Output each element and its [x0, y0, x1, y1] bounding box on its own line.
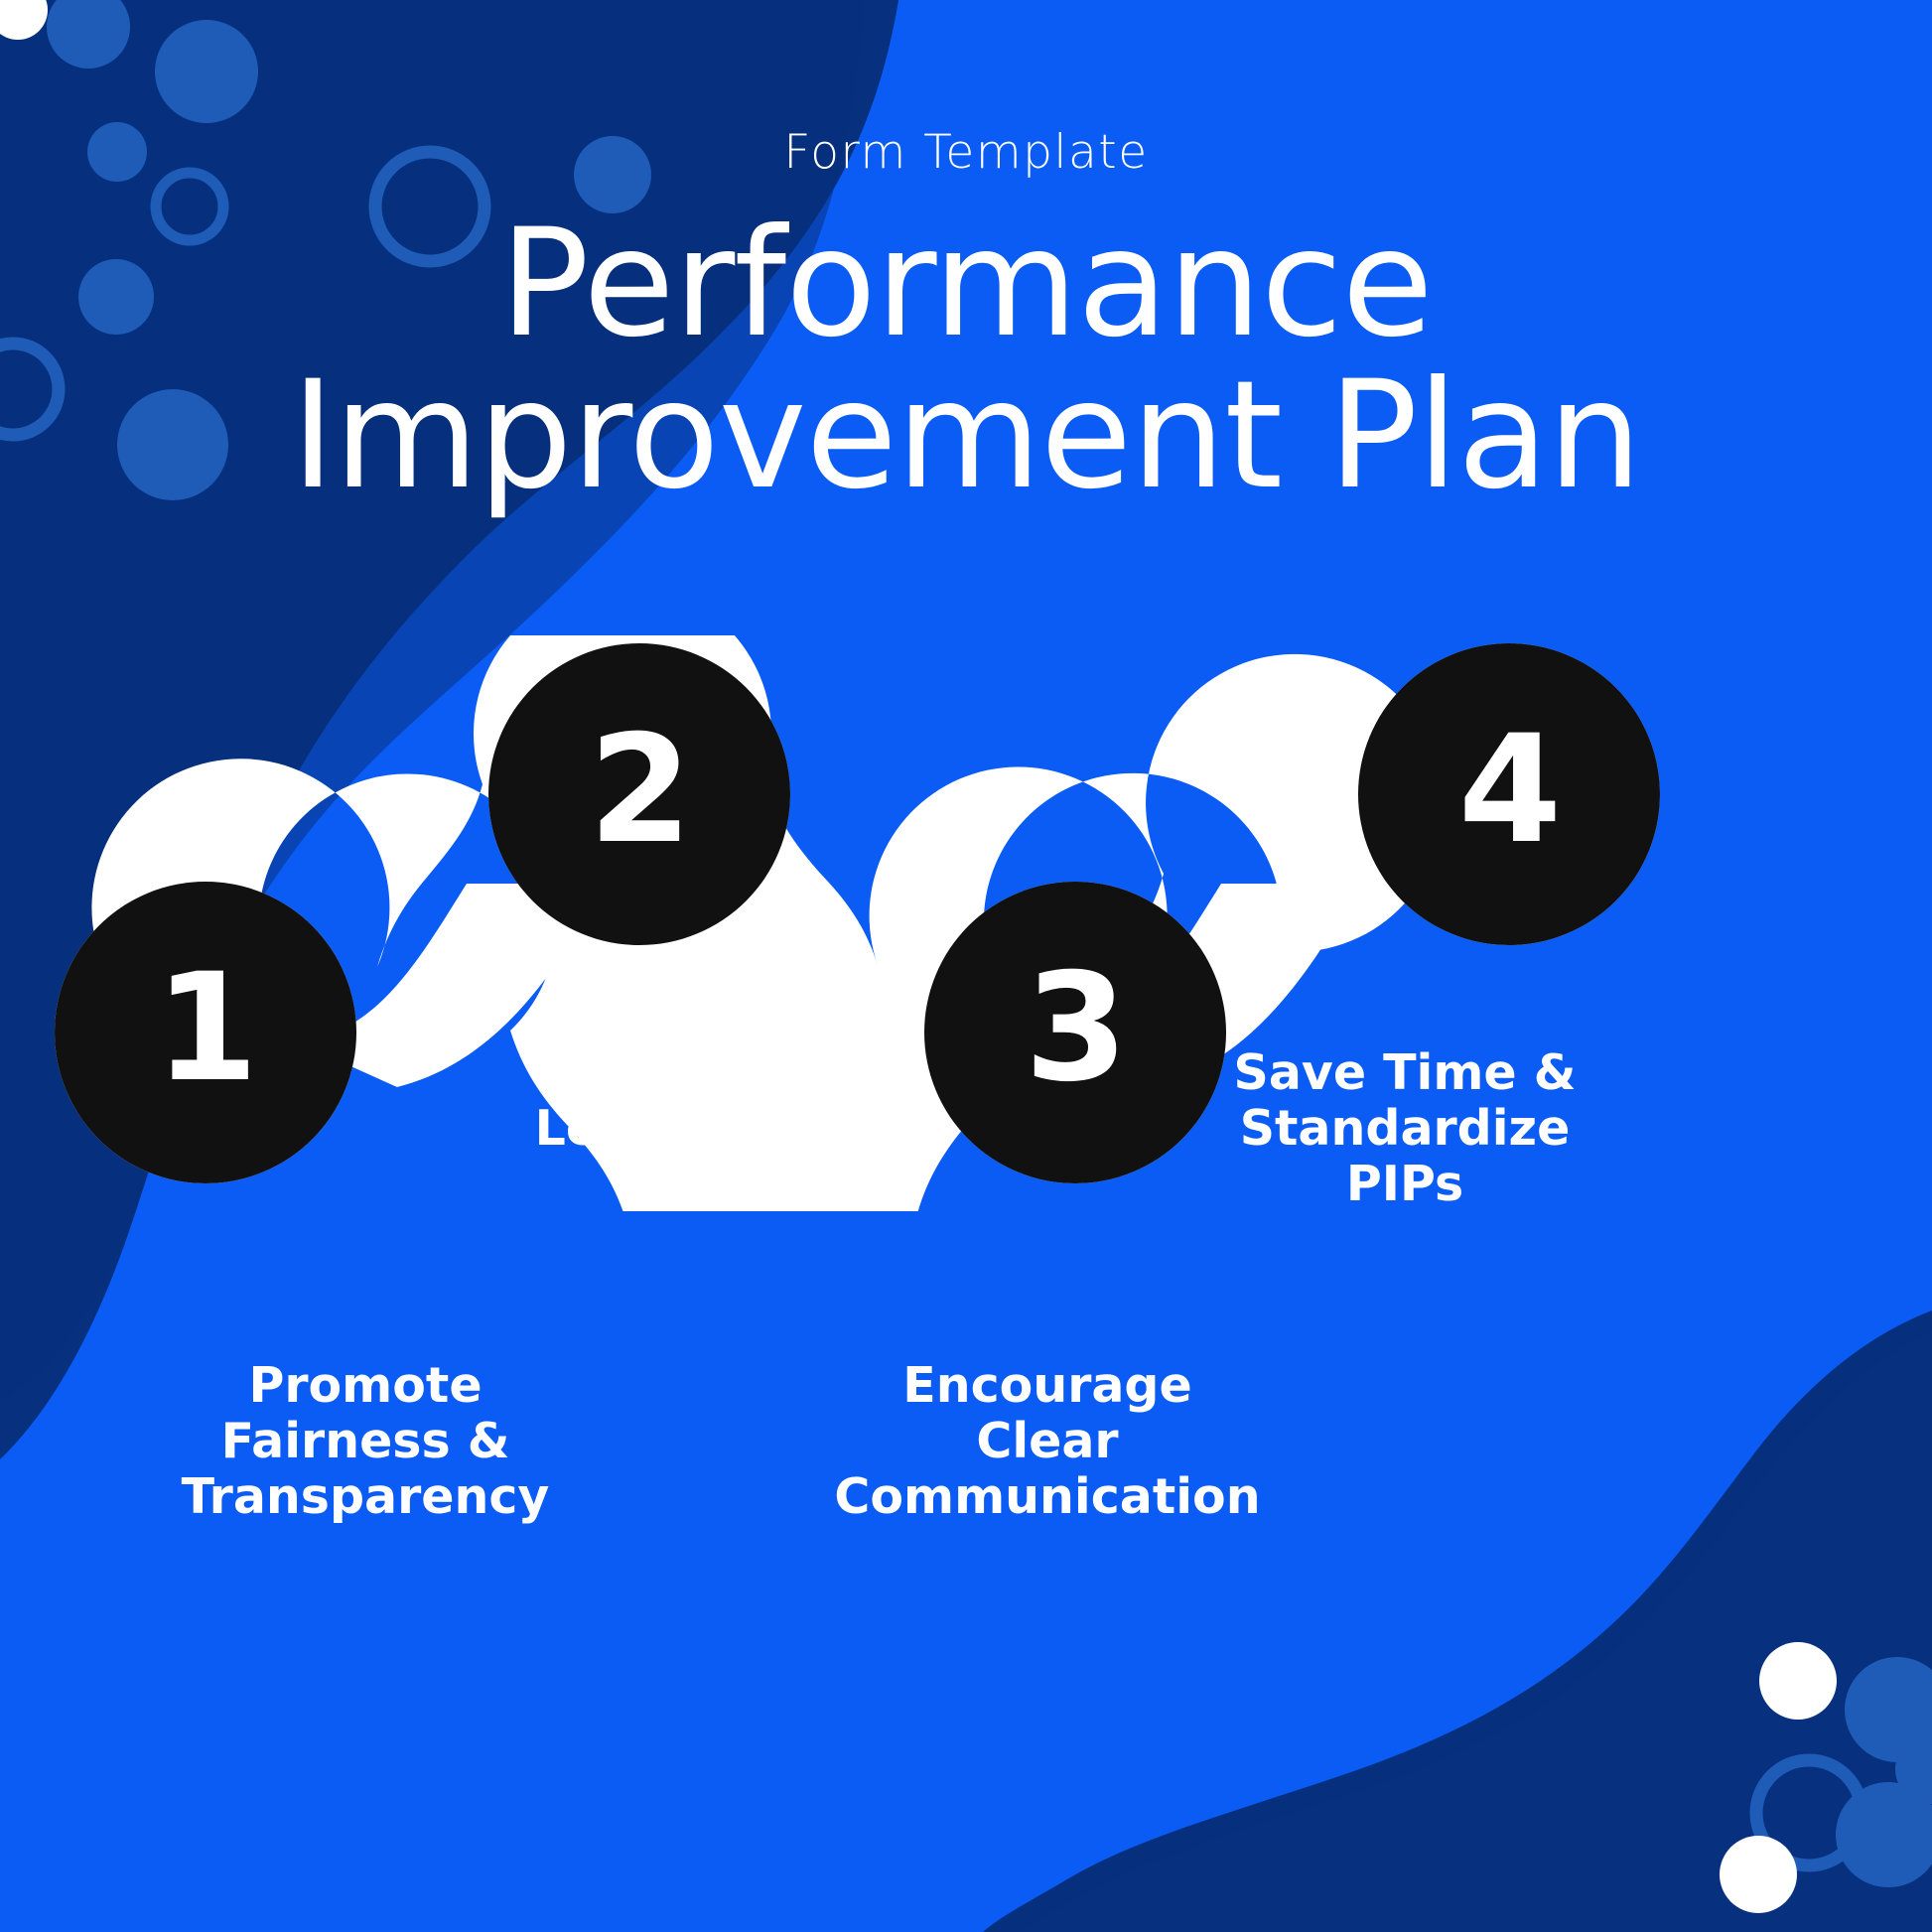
- decor-circle-outline: [1756, 1760, 1862, 1865]
- decor-circle-filled: [155, 20, 258, 123]
- infographic-canvas: Form Template Performance Improvement Pl…: [0, 0, 1932, 1932]
- decor-circle-filled: [1836, 1782, 1932, 1887]
- node-number-1: 1: [155, 954, 256, 1103]
- decor-circle-white: [1759, 1642, 1837, 1720]
- node-circle-1[interactable]: 1: [55, 882, 356, 1183]
- node-label-2: Reduce Legal Risk: [427, 1045, 923, 1157]
- decor-circle-filled: [1845, 1657, 1932, 1762]
- page-title-line-2: Improvement Plan: [0, 360, 1932, 512]
- node-number-4: 4: [1458, 716, 1560, 865]
- node-circle-2[interactable]: 2: [488, 643, 790, 945]
- decor-circle-filled: [1895, 1734, 1932, 1804]
- node-number-3: 3: [1025, 954, 1126, 1103]
- node-number-2: 2: [589, 716, 690, 865]
- header: Form Template Performance Improvement Pl…: [0, 127, 1932, 512]
- node-label-1: Promote Fairness & Transparency: [107, 1358, 623, 1525]
- eyebrow-label: Form Template: [0, 127, 1932, 179]
- decor-circle-white: [1720, 1836, 1797, 1913]
- node-label-3: Encourage Clear Communication: [784, 1358, 1311, 1525]
- decor-circle-white: [0, 0, 48, 40]
- node-label-4: Save Time & Standardize PIPs: [1137, 1045, 1673, 1212]
- decor-circle-filled: [47, 0, 130, 69]
- page-title: Performance Improvement Plan: [0, 208, 1932, 512]
- node-circle-4[interactable]: 4: [1358, 643, 1660, 945]
- page-title-line-1: Performance: [0, 208, 1932, 360]
